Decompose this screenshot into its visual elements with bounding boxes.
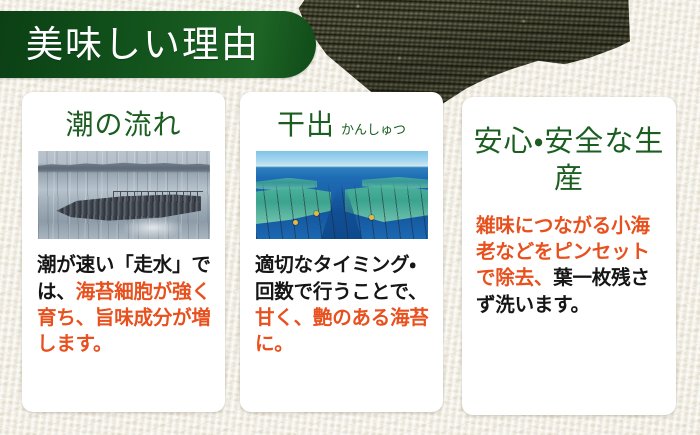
reason-card-exposure: 干出 かんしゅつ 適切なタイミング・回数で行うことで、甘く、艶のある海苔に。 [240, 92, 443, 412]
card-heading: 潮の流れ [22, 110, 225, 139]
page-title: 美味しい理由 [26, 26, 260, 63]
reason-card-tidal-flow: 潮の流れ 潮が速い「走水」では、海苔細胞が強く育ち、旨味成分が増します。 [22, 92, 225, 412]
sun-glare [124, 217, 182, 238]
reason-card-safe-production: 安心・安全な生産 雑味につながる小海老などをピンセットで除去、葉一枚残さず洗いま… [462, 97, 676, 415]
net-float-marker [369, 215, 374, 220]
card-heading-main: 干出 [277, 110, 335, 139]
nori-nets-blue-sea-photo [256, 151, 428, 239]
card-body-text: 潮が速い「走水」では、海苔細胞が強く育ち、旨味成分が増します。 [37, 252, 212, 357]
card-heading: 干出 かんしゅつ [240, 110, 443, 139]
title-banner: 美味しい理由 [0, 11, 316, 78]
card-heading: 安心・安全な生産 [462, 123, 676, 197]
nori-raft-rail [113, 191, 202, 201]
card-heading-furigana: かんしゅつ [341, 124, 406, 138]
card-body-text: 適切なタイミング・回数で行うことで、甘く、艶のある海苔に。 [255, 252, 430, 357]
card-body-text: 雑味につながる小海老などをピンセットで除去、葉一枚残さず洗います。 [476, 213, 664, 318]
body-segment: 適切なタイミング・回数で行うことで、 [255, 253, 427, 302]
nori-farm-raft-photo [38, 151, 210, 239]
body-segment: 潮が速い「走水」 [37, 253, 191, 276]
body-segment-highlight: 甘く、艶のある海苔に。 [255, 306, 429, 355]
support-poles [256, 151, 428, 239]
poster-canvas: 美味しい理由 潮の流れ 潮が速い「走水」では、海苔細胞が強く育ち、旨味成分が増し… [0, 0, 700, 435]
